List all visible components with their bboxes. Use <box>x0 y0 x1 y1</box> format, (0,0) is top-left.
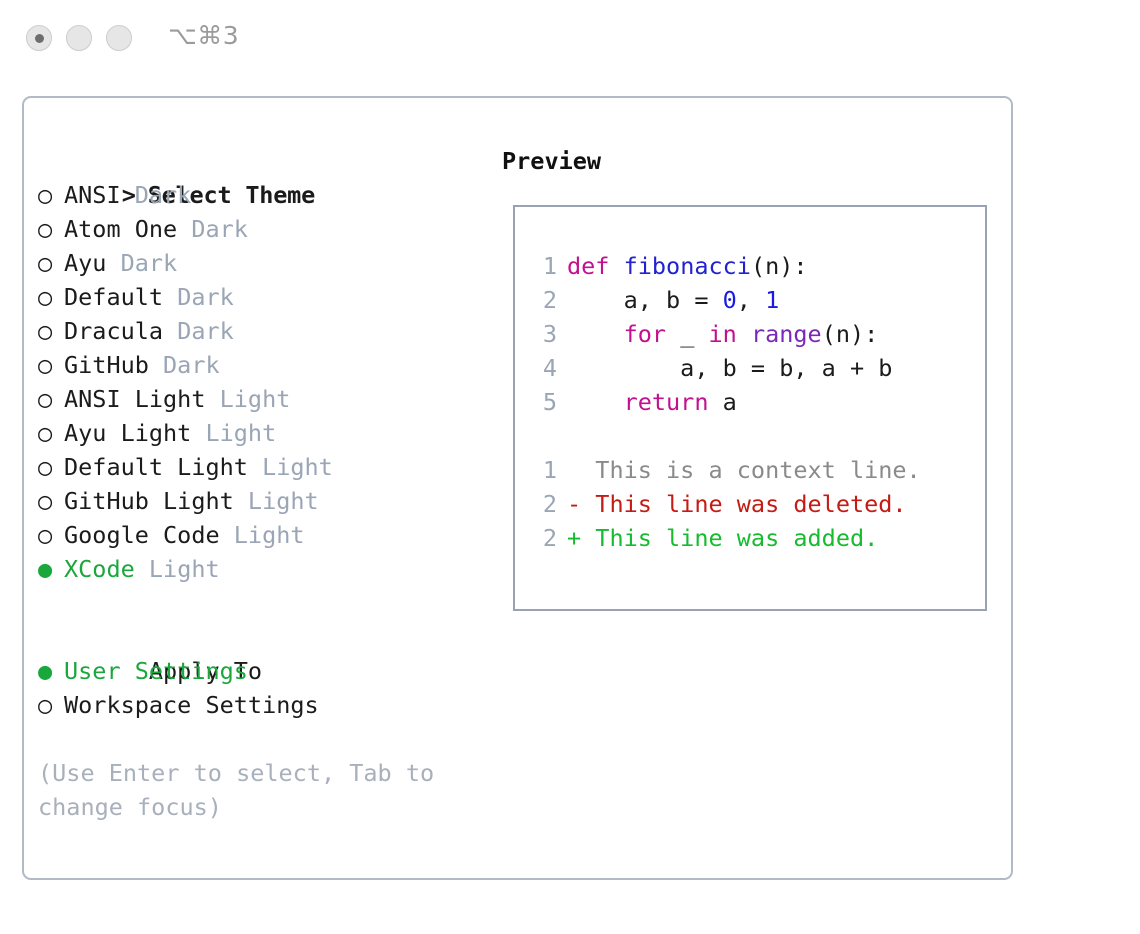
code-token: range <box>751 320 822 348</box>
radio-unselected-icon: ○ <box>38 178 64 212</box>
theme-item-label: Default <box>64 283 163 311</box>
code-token: a, b = <box>567 286 723 314</box>
apply-to-option-label: User Settings <box>64 657 248 685</box>
theme-list-item[interactable]: ○Default Light Light <box>38 450 490 484</box>
theme-item-label: Atom One <box>64 215 177 243</box>
window-zoom-button[interactable] <box>106 25 132 51</box>
window-minimize-button[interactable] <box>66 25 92 51</box>
apply-to-option[interactable]: ○Workspace Settings <box>38 688 490 722</box>
theme-item-variant-tag: Dark <box>163 283 234 311</box>
code-blank-line <box>531 419 979 453</box>
theme-list: ○ANSI Dark○Atom One Dark○Ayu Dark○Defaul… <box>38 178 490 586</box>
radio-unselected-icon: ○ <box>38 688 64 722</box>
apply-to-option[interactable]: ●User Settings <box>38 654 490 688</box>
code-token: def <box>567 252 609 280</box>
theme-list-item[interactable]: ○ANSI Light Light <box>38 382 490 416</box>
page-corner-decoration <box>1114 908 1140 934</box>
keyboard-shortcut-label: ⌥⌘3 <box>168 21 239 50</box>
apply-to-title: ○Apply To <box>38 620 490 654</box>
theme-item-label: Default Light <box>64 453 248 481</box>
close-dot-icon <box>35 34 44 43</box>
radio-unselected-icon: ○ <box>38 416 64 450</box>
theme-item-variant-tag: Dark <box>177 215 248 243</box>
theme-item-label: Google Code <box>64 521 220 549</box>
code-token: 1 <box>765 286 779 314</box>
theme-item-label: GitHub <box>64 351 149 379</box>
theme-item-variant-tag: Dark <box>121 181 192 209</box>
theme-list-header: >Select Theme <box>38 144 490 178</box>
theme-selection-panel: >Select Theme ○ANSI Dark○Atom One Dark○A… <box>38 144 490 824</box>
preview-code-box: 1def fibonacci(n):2 a, b = 0, 13 for _ i… <box>513 205 987 611</box>
diff-line-number: 2 <box>531 487 557 521</box>
window-close-button[interactable] <box>26 25 52 51</box>
theme-list-item[interactable]: ○GitHub Dark <box>38 348 490 382</box>
code-token: fibonacci <box>624 252 751 280</box>
code-line: 4 a, b = b, a + b <box>531 351 979 385</box>
theme-item-variant-tag: Dark <box>163 317 234 345</box>
section-spacer <box>38 586 490 620</box>
code-token: a <box>708 388 736 416</box>
code-line: 3 for _ in range(n): <box>531 317 979 351</box>
theme-item-variant-tag: Dark <box>106 249 177 277</box>
diff-line-text: + This line was added. <box>567 524 878 552</box>
code-line-number: 2 <box>531 283 557 317</box>
theme-list-item[interactable]: ○Dracula Dark <box>38 314 490 348</box>
theme-item-variant-tag: Light <box>205 385 290 413</box>
diff-line-text: - This line was deleted. <box>567 490 907 518</box>
diff-line: 2- This line was deleted. <box>531 487 979 521</box>
preview-title: Preview <box>502 144 1002 178</box>
code-token: a, b = b, a + b <box>567 354 892 382</box>
code-token <box>567 388 624 416</box>
theme-item-variant-tag: Dark <box>149 351 220 379</box>
diff-line-number: 2 <box>531 521 557 555</box>
radio-selected-icon: ● <box>38 552 64 586</box>
preview-panel: Preview 1def fibonacci(n):2 a, b = 0, 13… <box>502 144 1002 178</box>
radio-unselected-icon: ○ <box>38 246 64 280</box>
code-token: , <box>737 286 765 314</box>
radio-unselected-icon: ○ <box>38 484 64 518</box>
preview-code-content: 1def fibonacci(n):2 a, b = 0, 13 for _ i… <box>531 249 979 555</box>
code-token <box>737 320 751 348</box>
window-titlebar: ⌥⌘3 <box>0 0 1140 78</box>
theme-list-item[interactable]: ●XCode Light <box>38 552 490 586</box>
code-token: _ <box>666 320 708 348</box>
code-token: for <box>624 320 666 348</box>
theme-item-variant-tag: Light <box>234 487 319 515</box>
diff-line-number: 1 <box>531 453 557 487</box>
theme-list-item[interactable]: ○Atom One Dark <box>38 212 490 246</box>
theme-list-item[interactable]: ○Ayu Dark <box>38 246 490 280</box>
diff-sample-lines: 1 This is a context line.2- This line wa… <box>531 453 979 555</box>
apply-to-list: ●User Settings○Workspace Settings <box>38 654 490 722</box>
code-token <box>609 252 623 280</box>
theme-item-label: GitHub Light <box>64 487 234 515</box>
code-line-number: 3 <box>531 317 557 351</box>
diff-line: 1 This is a context line. <box>531 453 979 487</box>
code-token: 0 <box>723 286 737 314</box>
code-line-number: 5 <box>531 385 557 419</box>
code-token <box>567 320 624 348</box>
theme-item-label: Dracula <box>64 317 163 345</box>
theme-item-label: ANSI <box>64 181 121 209</box>
theme-item-variant-tag: Light <box>191 419 276 447</box>
theme-list-item[interactable]: ○Google Code Light <box>38 518 490 552</box>
radio-unselected-icon: ○ <box>38 280 64 314</box>
code-token: in <box>709 320 737 348</box>
diff-line-text: This is a context line. <box>567 456 921 484</box>
theme-item-label: Ayu Light <box>64 419 191 447</box>
code-token: return <box>624 388 709 416</box>
code-line-number: 1 <box>531 249 557 283</box>
theme-item-variant-tag: Light <box>135 555 220 583</box>
theme-picker-dialog: >Select Theme ○ANSI Dark○Atom One Dark○A… <box>22 96 1013 880</box>
theme-item-label: XCode <box>64 555 135 583</box>
theme-item-variant-tag: Light <box>248 453 333 481</box>
code-line: 1def fibonacci(n): <box>531 249 979 283</box>
radio-unselected-icon: ○ <box>38 382 64 416</box>
radio-unselected-icon: ○ <box>38 314 64 348</box>
theme-item-variant-tag: Light <box>220 521 305 549</box>
code-line: 2 a, b = 0, 1 <box>531 283 979 317</box>
code-line: 5 return a <box>531 385 979 419</box>
theme-list-item[interactable]: ○GitHub Light Light <box>38 484 490 518</box>
code-line-number: 4 <box>531 351 557 385</box>
theme-list-item[interactable]: ○Default Dark <box>38 280 490 314</box>
code-token: (n): <box>822 320 879 348</box>
code-token: (n): <box>751 252 808 280</box>
radio-unselected-icon: ○ <box>38 212 64 246</box>
theme-item-label: ANSI Light <box>64 385 205 413</box>
diff-line: 2+ This line was added. <box>531 521 979 555</box>
radio-unselected-icon: ○ <box>38 450 64 484</box>
keyboard-hint-text: (Use Enter to select, Tab to change focu… <box>38 756 458 824</box>
radio-selected-icon: ● <box>38 654 64 688</box>
radio-unselected-icon: ○ <box>38 348 64 382</box>
apply-to-option-label: Workspace Settings <box>64 691 319 719</box>
radio-unselected-icon: ○ <box>38 518 64 552</box>
theme-list-item[interactable]: ○Ayu Light Light <box>38 416 490 450</box>
code-sample-lines: 1def fibonacci(n):2 a, b = 0, 13 for _ i… <box>531 249 979 419</box>
theme-item-label: Ayu <box>64 249 106 277</box>
